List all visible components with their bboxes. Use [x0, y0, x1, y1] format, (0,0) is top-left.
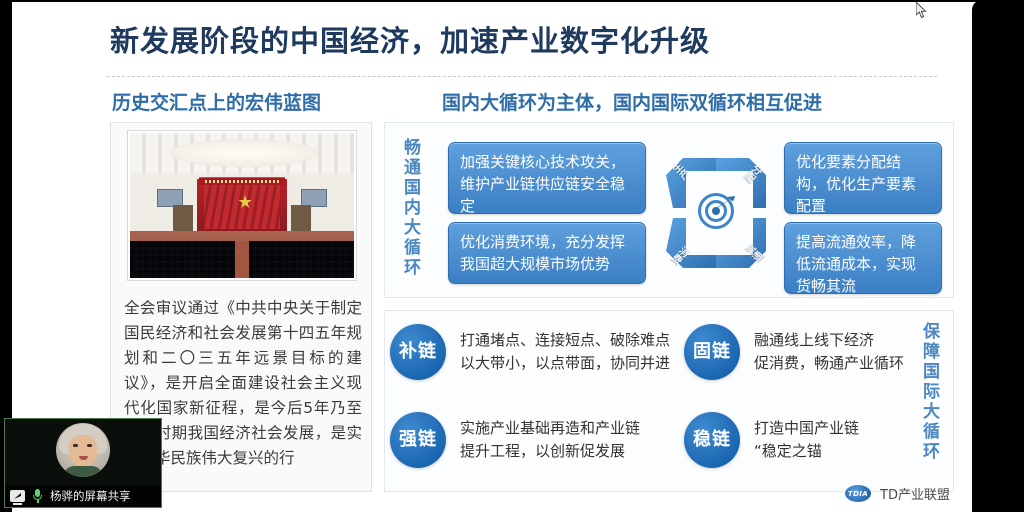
- screen-share-label: 杨骅的屏幕共享: [50, 488, 131, 504]
- mouse-cursor: [916, 2, 927, 19]
- chain-badge: 固链: [684, 324, 740, 380]
- microphone-icon[interactable]: [32, 489, 43, 503]
- vertical-label-domestic-circulation: 畅通国内大循环: [398, 138, 423, 288]
- screen-share-status-bar: 杨骅的屏幕共享: [5, 485, 161, 507]
- photo-ceiling: [130, 133, 354, 173]
- presentation-slide: 新发展阶段的中国经济，加速产业数字化升级 历史交汇点上的宏伟蓝图 国内大循环为主…: [12, 0, 1012, 512]
- avatar-eye-left: [73, 444, 78, 447]
- meeting-screen-share-view: 新发展阶段的中国经济，加速产业数字化升级 历史交汇点上的宏伟蓝图 国内大循环为主…: [0, 0, 1024, 512]
- blue-callout-box: 优化消费环境，充分发挥我国超大规模市场优势: [448, 222, 646, 284]
- tdia-globe-icon: TDIA: [845, 485, 871, 502]
- vertical-label-international-circulation: 保障国际大循环: [917, 322, 942, 484]
- footer-logo: TDIA TD产业联盟: [845, 484, 950, 503]
- section-heading-right: 国内大循环为主体，国内国际双循环相互促进: [442, 88, 822, 115]
- page-title: 新发展阶段的中国经济，加速产业数字化升级: [110, 18, 710, 60]
- chain-item: 强链 实施产业基础再造和产业链提升工程，以创新促发展: [390, 412, 640, 468]
- photo-banner: [199, 177, 284, 185]
- screen-share-icon[interactable]: [10, 490, 25, 502]
- chain-description: 融通线上线下经济促消费，畅通产业循环: [754, 329, 904, 375]
- title-divider: [107, 76, 937, 77]
- avatar-eye-right: [87, 444, 92, 447]
- chain-description: 打通堵点、连接短点、破除难点以大带小，以点带面，协同并进: [460, 329, 670, 375]
- photo-door-left: [173, 205, 193, 231]
- participant-avatar: [56, 423, 110, 477]
- chain-badge: 强链: [390, 412, 446, 468]
- target-bullseye-icon: [693, 188, 739, 234]
- chain-item: 补链 打通堵点、连接短点、破除难点以大带小，以点带面，协同并进: [390, 324, 670, 380]
- economic-cycle-diagram: 生产 分配 消费 流通: [660, 146, 772, 276]
- blue-callout-box: 加强关键核心技术攻关，维护产业链供应链安全稳定: [448, 142, 646, 214]
- photo-aisle: [235, 241, 248, 280]
- blue-callout-box: 提高流通效率，降低流通成本，实现货畅其流: [784, 222, 942, 294]
- microphone-stem: [37, 500, 39, 503]
- great-hall-plenary-session-photo: [128, 131, 356, 280]
- window-frame-right: [972, 0, 1024, 512]
- chain-item: 固链 融通线上线下经济促消费，畅通产业循环: [684, 324, 904, 380]
- chain-item: 稳链 打造中国产业链“稳定之锚: [684, 412, 859, 468]
- window-frame-top: [0, 0, 1024, 2]
- photo-door-right: [291, 205, 311, 231]
- blue-callout-box: 优化要素分配结构，优化生产要素配置: [784, 142, 942, 214]
- avatar-body: [64, 466, 102, 477]
- avatar-face: [69, 435, 97, 467]
- chain-badge: 稳链: [684, 412, 740, 468]
- screen-share-thumbnail[interactable]: 杨骅的屏幕共享: [4, 418, 162, 508]
- chain-badge: 补链: [390, 324, 446, 380]
- footer-logo-text: TD产业联盟: [880, 484, 950, 503]
- section-heading-left: 历史交汇点上的宏伟蓝图: [112, 88, 321, 115]
- chain-description: 实施产业基础再造和产业链提升工程，以创新促发展: [460, 417, 640, 463]
- chain-description: 打造中国产业链“稳定之锚: [754, 417, 859, 463]
